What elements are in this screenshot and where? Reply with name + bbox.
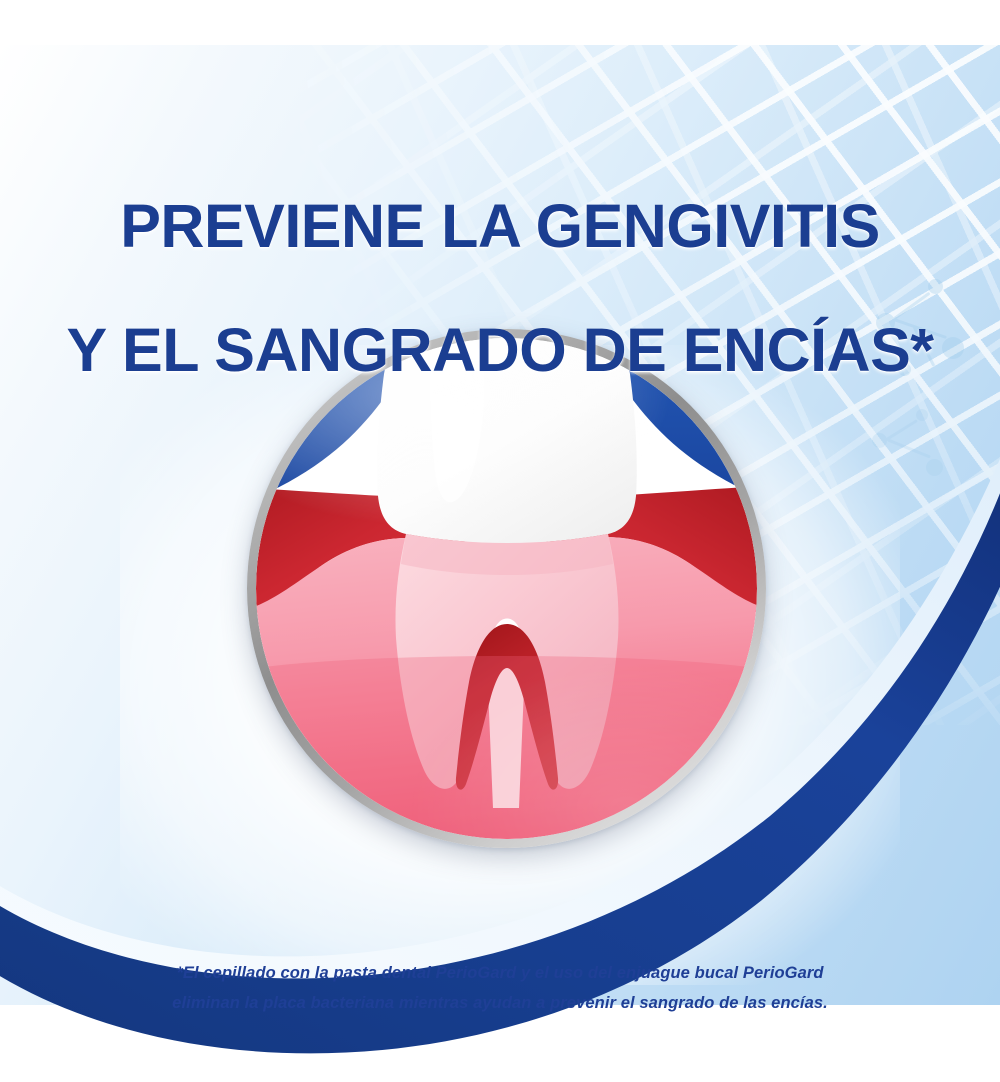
page-title: PREVIENE LA GENGIVITIS Y EL SANGRADO DE …	[0, 133, 1000, 443]
footnote-line-1: *El cepillado con la pasta dental PerioG…	[0, 958, 1000, 988]
footnote-line-2: eliminan la placa bacteriana mientras ay…	[0, 988, 1000, 1018]
periogard-gingivitis-banner: PREVIENE LA GENGIVITIS Y EL SANGRADO DE …	[0, 0, 1000, 1082]
headline-line-2: Y EL SANGRADO DE ENCÍAS*	[0, 319, 1000, 381]
footnote-disclaimer: *El cepillado con la pasta dental PerioG…	[0, 958, 1000, 1018]
headline-line-1: PREVIENE LA GENGIVITIS	[0, 195, 1000, 257]
